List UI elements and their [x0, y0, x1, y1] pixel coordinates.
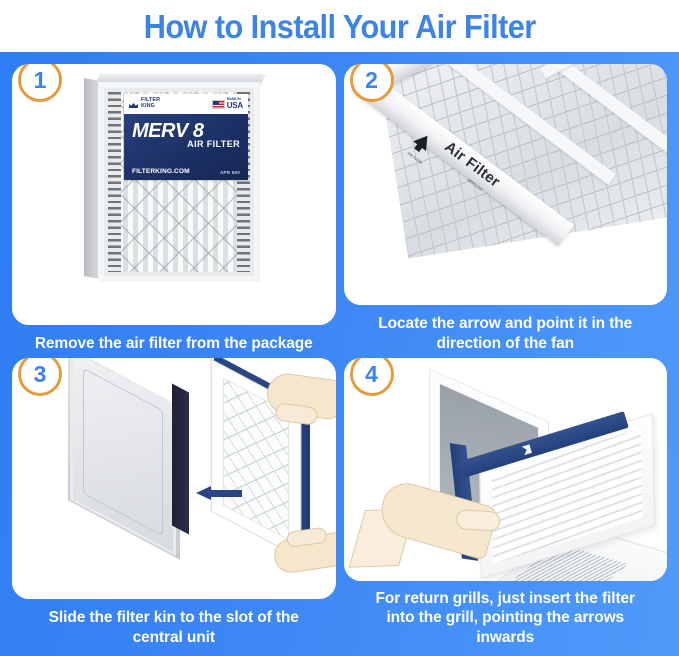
return-grill-illustration	[344, 358, 668, 581]
step-number-4: 4	[365, 363, 378, 386]
arrow-shaft	[210, 490, 242, 497]
caption-line: central unit	[133, 629, 215, 646]
step-4-caption: For return grills, just insert the filte…	[344, 581, 668, 650]
step-2-caption: Locate the arrow and point it in the dir…	[344, 305, 668, 356]
step-card-4: 4 For return grills, just insert the fil…	[344, 358, 668, 650]
steps-grid: FILTER KING MADE IN USA	[0, 52, 679, 656]
step-card-2: AIR FLOW Air Filter AIRFLOW 2 Locate the…	[344, 64, 668, 356]
central-unit-face	[70, 358, 176, 556]
infographic-root: How to Install Your Air Filter	[0, 0, 679, 656]
left-arrow-icon	[196, 486, 242, 499]
made-in-usa-badge: MADE IN USA	[212, 98, 243, 110]
step-3-caption: Slide the filter kin to the slot of the …	[12, 599, 336, 650]
caption-line: Remove the air filter from the package	[35, 335, 313, 352]
filter-left-rail	[108, 92, 121, 272]
usa-flag-icon	[212, 100, 225, 109]
caption-line: into the grill, pointing the arrows	[386, 609, 624, 626]
merv-rating: MERV 8	[132, 121, 240, 141]
origin-big: USA	[227, 102, 243, 110]
origin-text: MADE IN USA	[227, 98, 243, 110]
slide-filter-illustration	[12, 358, 336, 599]
filter-corner-photo: AIR FLOW Air Filter AIRFLOW	[344, 64, 668, 305]
step-card-1: FILTER KING MADE IN USA	[12, 64, 336, 356]
arrow-head	[196, 486, 211, 500]
filter-front-face: FILTER KING MADE IN USA	[98, 82, 260, 282]
brand-line-2: KING	[141, 103, 155, 109]
label-apr-rating: APR 650	[220, 170, 240, 175]
central-unit-slot	[172, 383, 189, 534]
product-label: FILTER KING MADE IN USA	[124, 94, 248, 180]
step-1-caption: Remove the air filter from the package	[12, 325, 336, 356]
brand-logo: FILTER KING	[129, 98, 160, 110]
step-1-image-card: FILTER KING MADE IN USA	[12, 64, 336, 325]
caption-line: Locate the arrow and point it in the	[378, 315, 632, 332]
caption-line: inwards	[476, 629, 534, 646]
crown-icon	[129, 99, 139, 109]
brand-name: FILTER KING	[141, 98, 160, 110]
caption-line: For return grills, just insert the filte…	[376, 590, 635, 607]
label-merv-block: MERV 8 AIR FILTER	[132, 121, 240, 149]
step-number-3: 3	[34, 363, 47, 386]
caption-line: direction of the fan	[436, 335, 574, 352]
step-number-2: 2	[365, 69, 378, 92]
caption-line: Slide the filter kin to the slot of the	[49, 609, 299, 626]
step-2-image-card: AIR FLOW Air Filter AIRFLOW 2	[344, 64, 668, 305]
label-top-row: FILTER KING MADE IN USA	[124, 94, 248, 114]
filter-product-illustration: FILTER KING MADE IN USA	[84, 72, 262, 282]
hand-upper	[265, 371, 336, 421]
step-3-image-card: 3	[12, 358, 336, 599]
step-number-1: 1	[34, 69, 47, 92]
label-website: FILTERKING.COM	[132, 168, 190, 175]
label-bottom-row: FILTERKING.COM APR 650	[132, 168, 240, 175]
step-4-image-card: 4	[344, 358, 668, 581]
label-main-panel: MERV 8 AIR FILTER FILTERKING.COM APR 650	[124, 114, 248, 180]
page-title: How to Install Your Air Filter	[144, 10, 536, 43]
air-filter-photo: FILTER KING MADE IN USA	[12, 64, 336, 325]
header-band: How to Install Your Air Filter	[0, 0, 679, 52]
step-card-3: 3 Slide the filter kin to the slot of th…	[12, 358, 336, 650]
